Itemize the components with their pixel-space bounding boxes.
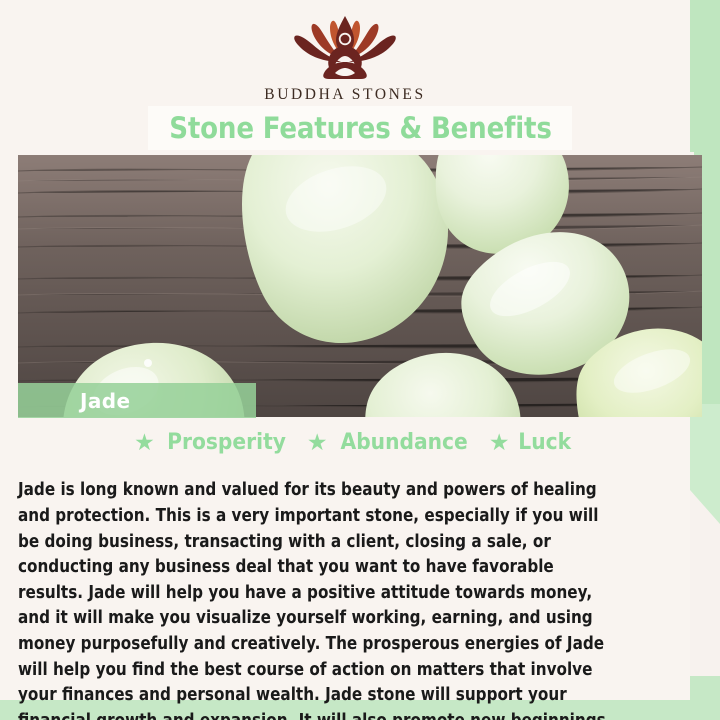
title-banner: Stone Features & Benefits [148, 106, 572, 150]
keyword-label: Abundance [340, 430, 467, 455]
stone-features-card: BUDDHA STONES Stone Features & Benefits [0, 0, 720, 720]
page-title: Stone Features & Benefits [169, 111, 551, 145]
photo-caption-band: Jade [18, 383, 256, 418]
jade-stones-photo [18, 155, 702, 417]
decor-green-right-tab [690, 404, 720, 524]
keywords-row: ★ Prosperity ★ Abundance ★ Luck [18, 430, 690, 455]
keyword-item: ★ Luck [489, 430, 574, 455]
keyword-label: Prosperity [167, 430, 286, 455]
star-icon: ★ [134, 431, 155, 454]
star-icon: ★ [489, 431, 510, 454]
keyword-item: ★ Abundance [307, 430, 473, 455]
lotus-meditation-figure-icon [283, 12, 407, 84]
brand-logo: BUDDHA STONES [0, 12, 690, 104]
keyword-label: Luck [519, 430, 572, 455]
keyword-item: ★ Prosperity [134, 430, 291, 455]
stone-description: Jade is long known and valued for its be… [18, 478, 611, 720]
star-icon: ★ [307, 431, 328, 454]
brand-name: BUDDHA STONES [0, 86, 690, 104]
jade-stones-illustration [18, 155, 702, 417]
photo-caption-label: Jade [80, 389, 130, 413]
